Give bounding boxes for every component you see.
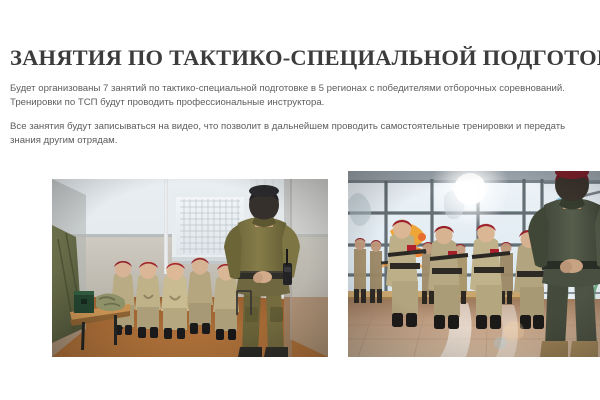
page-title: ЗАНЯТИЯ ПО ТАКТИКО-СПЕЦИАЛЬНОЙ ПОДГОТОВК… [10,45,592,71]
hall-drill-photo[interactable] [348,171,600,357]
article-page: ЗАНЯТИЯ ПО ТАКТИКО-СПЕЦИАЛЬНОЙ ПОДГОТОВК… [0,0,600,400]
classroom-briefing-image [52,179,328,357]
article-paragraph-2: Все занятия будут записываться на видео,… [10,120,580,149]
article-paragraph-1: Будет организованы 7 занятий по тактико-… [10,82,580,111]
classroom-briefing-photo[interactable] [52,179,328,357]
hall-drill-image [348,171,600,357]
